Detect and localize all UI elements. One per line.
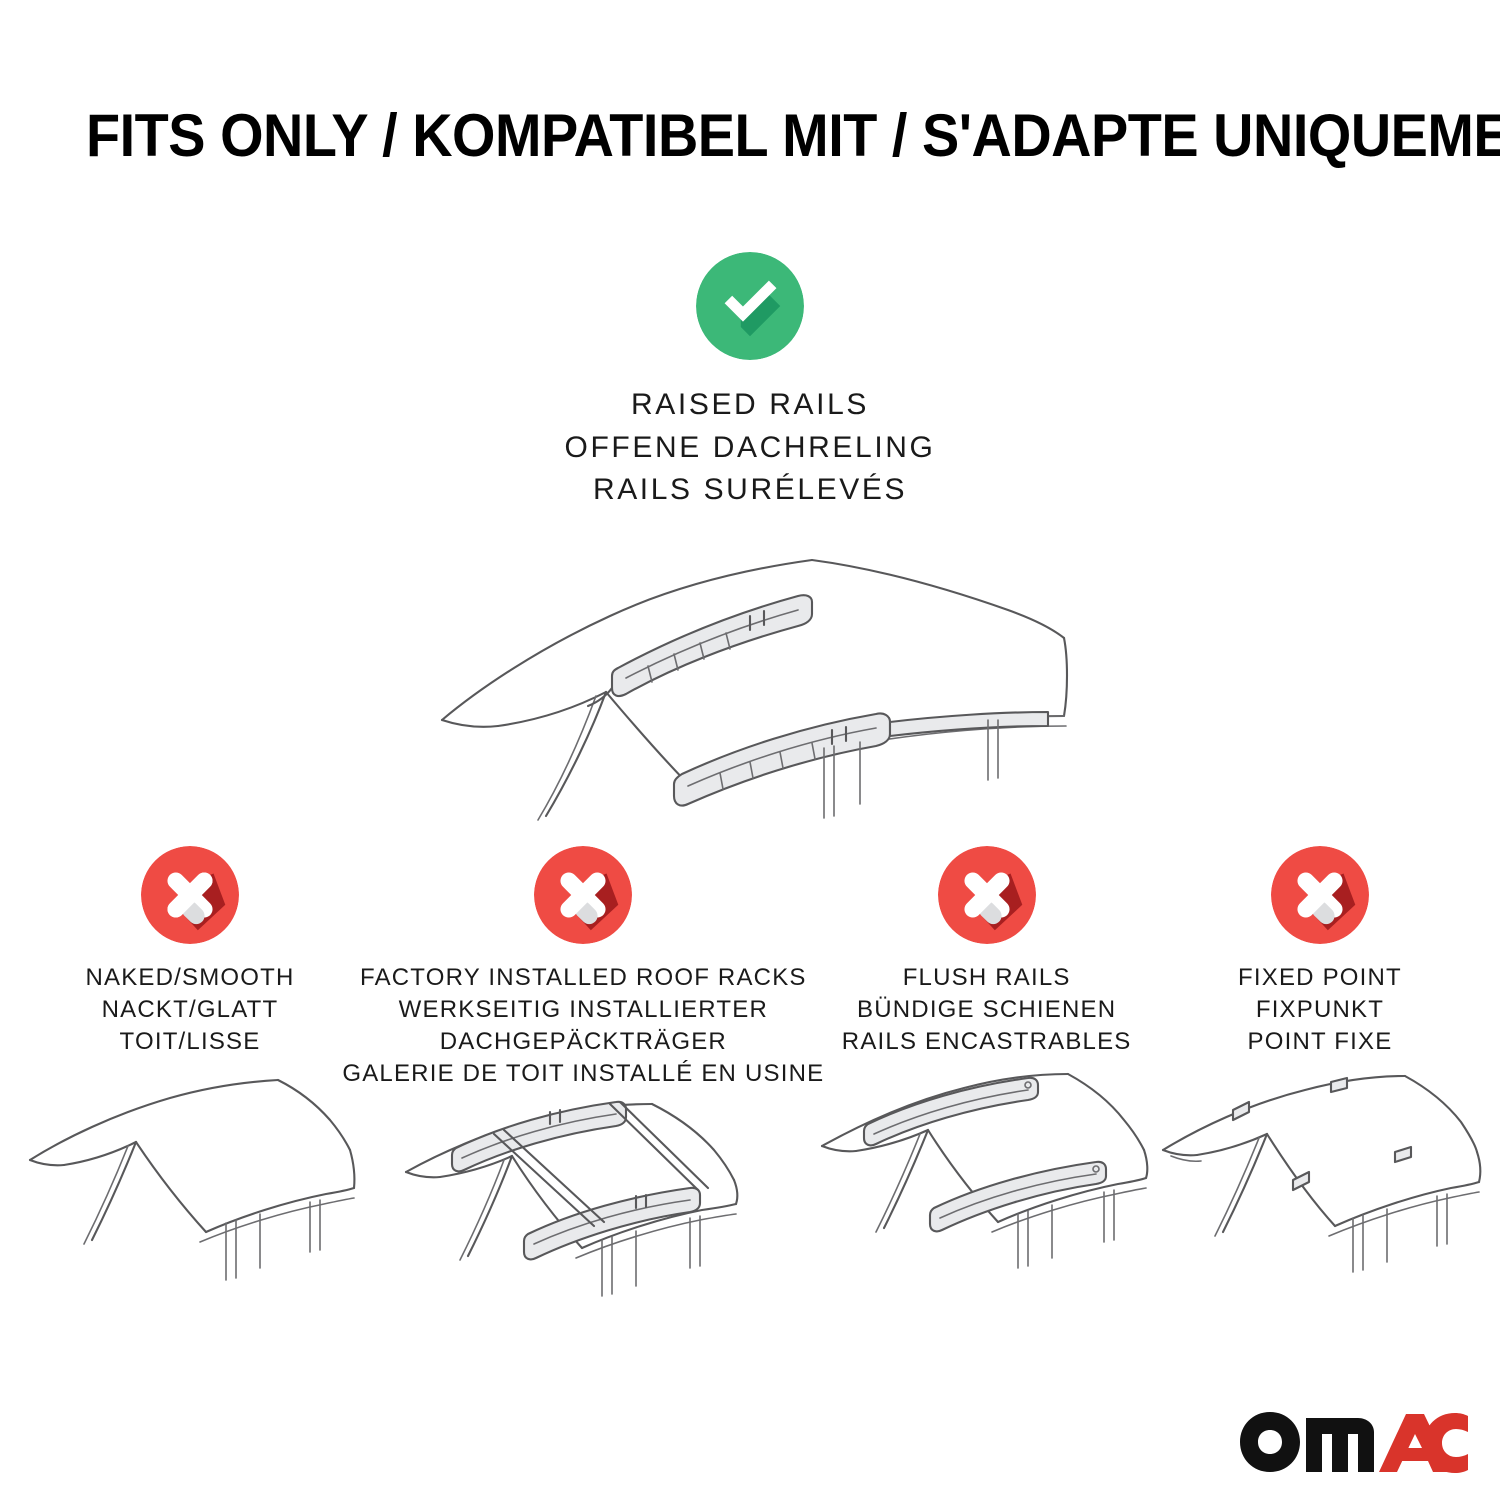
label-line-de-1: WERKSEITIG INSTALLIERTER xyxy=(342,994,824,1026)
cross-circle-icon xyxy=(1271,846,1369,944)
car-roof-factory-roof-racks-illustration xyxy=(398,1100,768,1330)
label-line-fr: POINT FIXE xyxy=(1238,1026,1402,1058)
car-roof-flush-rails-illustration xyxy=(812,1068,1162,1298)
incompatible-item-flush-rails: FLUSH RAILS BÜNDIGE SCHIENEN RAILS ENCAS… xyxy=(817,846,1157,1298)
label-line-de: NACKT/GLATT xyxy=(85,994,294,1026)
cross-circle-icon xyxy=(534,846,632,944)
compatible-label: RAISED RAILS OFFENE DACHRELING RAILS SUR… xyxy=(565,384,936,512)
incompatible-section: NAKED/SMOOTH NACKT/GLATT TOIT/LISSE xyxy=(0,846,1500,1330)
label-line-fr: RAILS ENCASTRABLES xyxy=(842,1026,1132,1058)
compatible-label-line-en: RAISED RAILS xyxy=(565,384,936,427)
check-circle-icon xyxy=(696,252,804,360)
logo-letter-o xyxy=(1240,1412,1300,1472)
label-line-en: FLUSH RAILS xyxy=(842,962,1132,994)
car-roof-fixed-point-illustration xyxy=(1155,1068,1485,1298)
label-line-de: FIXPUNKT xyxy=(1238,994,1402,1026)
car-roof-raised-rails-illustration xyxy=(420,530,1080,830)
label-line-fr: GALERIE DE TOIT INSTALLÉ EN USINE xyxy=(342,1058,824,1090)
compatible-label-line-fr: RAILS SURÉLEVÉS xyxy=(565,469,936,512)
compatibility-infographic: FITS ONLY / KOMPATIBEL MIT / S'ADAPTE UN… xyxy=(0,0,1500,1500)
cross-circle-icon xyxy=(938,846,1036,944)
car-roof-naked-smooth-illustration xyxy=(20,1068,360,1298)
label-line-en: FACTORY INSTALLED ROOF RACKS xyxy=(342,962,824,994)
incompatible-label-flush-rails: FLUSH RAILS BÜNDIGE SCHIENEN RAILS ENCAS… xyxy=(842,962,1132,1058)
label-line-en: FIXED POINT xyxy=(1238,962,1402,994)
incompatible-item-fixed-point: FIXED POINT FIXPUNKT POINT FIXE xyxy=(1170,846,1470,1298)
logo-letter-m xyxy=(1306,1418,1374,1472)
cross-circle-icon xyxy=(141,846,239,944)
incompatible-label-naked-smooth: NAKED/SMOOTH NACKT/GLATT TOIT/LISSE xyxy=(85,962,294,1058)
incompatible-item-naked-smooth: NAKED/SMOOTH NACKT/GLATT TOIT/LISSE xyxy=(30,846,350,1298)
page-title: FITS ONLY / KOMPATIBEL MIT / S'ADAPTE UN… xyxy=(86,104,1332,167)
label-line-en: NAKED/SMOOTH xyxy=(85,962,294,994)
compatible-section: RAISED RAILS OFFENE DACHRELING RAILS SUR… xyxy=(0,252,1500,830)
label-line-de-2: DACHGEPÄCKTRÄGER xyxy=(342,1026,824,1058)
compatible-label-line-de: OFFENE DACHRELING xyxy=(565,427,936,470)
label-line-fr: TOIT/LISSE xyxy=(85,1026,294,1058)
incompatible-label-factory-roof-racks: FACTORY INSTALLED ROOF RACKS WERKSEITIG … xyxy=(342,962,824,1090)
label-line-de: BÜNDIGE SCHIENEN xyxy=(842,994,1132,1026)
incompatible-item-factory-roof-racks: FACTORY INSTALLED ROOF RACKS WERKSEITIG … xyxy=(363,846,803,1330)
omac-logo xyxy=(1238,1410,1470,1476)
incompatible-label-fixed-point: FIXED POINT FIXPUNKT POINT FIXE xyxy=(1238,962,1402,1058)
